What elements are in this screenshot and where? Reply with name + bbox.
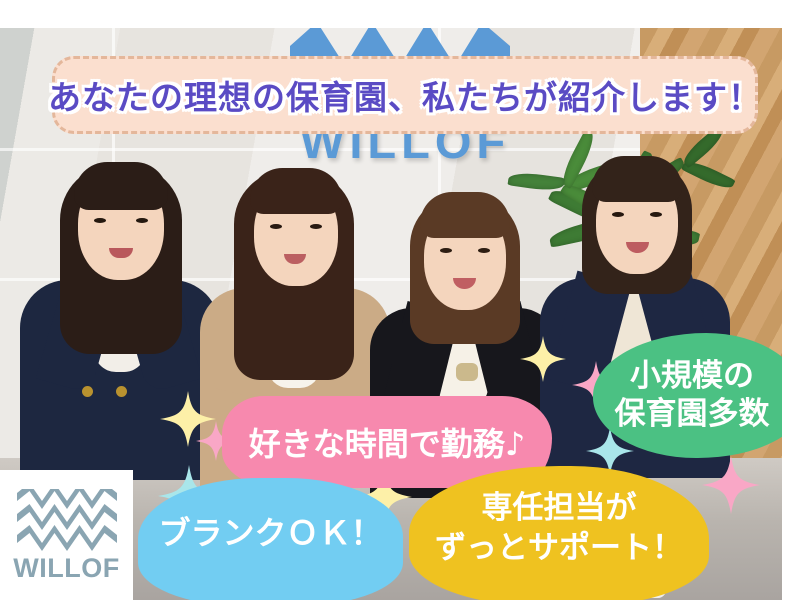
- bubble-line-1: ブランクＯＫ！: [158, 508, 382, 554]
- bubble-line-1: 専任担当が: [482, 488, 637, 528]
- bubble-blank-ok: ブランクＯＫ！: [138, 478, 403, 600]
- willof-zigzag-icon: [17, 489, 117, 551]
- bubble-line-2: ずっとサポート！: [435, 528, 683, 568]
- top-white-margin: [0, 0, 800, 28]
- bubble-line-1: 小規模の: [630, 358, 754, 396]
- bubble-line-1: 好きな時間で勤務♪: [249, 419, 525, 465]
- sparkle-icon: [702, 452, 760, 518]
- headline-text: あなたの理想の保育園、私たちが紹介します！: [48, 71, 762, 119]
- advertisement-banner: WILLOF: [0, 0, 800, 600]
- willof-logo: WILLOF: [0, 470, 133, 600]
- bubble-support: 専任担当が ずっとサポート！: [409, 466, 709, 600]
- bubble-line-2: 保育園多数: [615, 396, 770, 434]
- sparkle-icon: [520, 333, 566, 385]
- headline-banner: あなたの理想の保育園、私たちが紹介します！: [52, 56, 758, 134]
- bubble-small-nursery: 小規模の 保育園多数: [593, 333, 800, 458]
- willof-logo-text: WILLOF: [13, 555, 119, 582]
- right-white-margin: [782, 0, 800, 600]
